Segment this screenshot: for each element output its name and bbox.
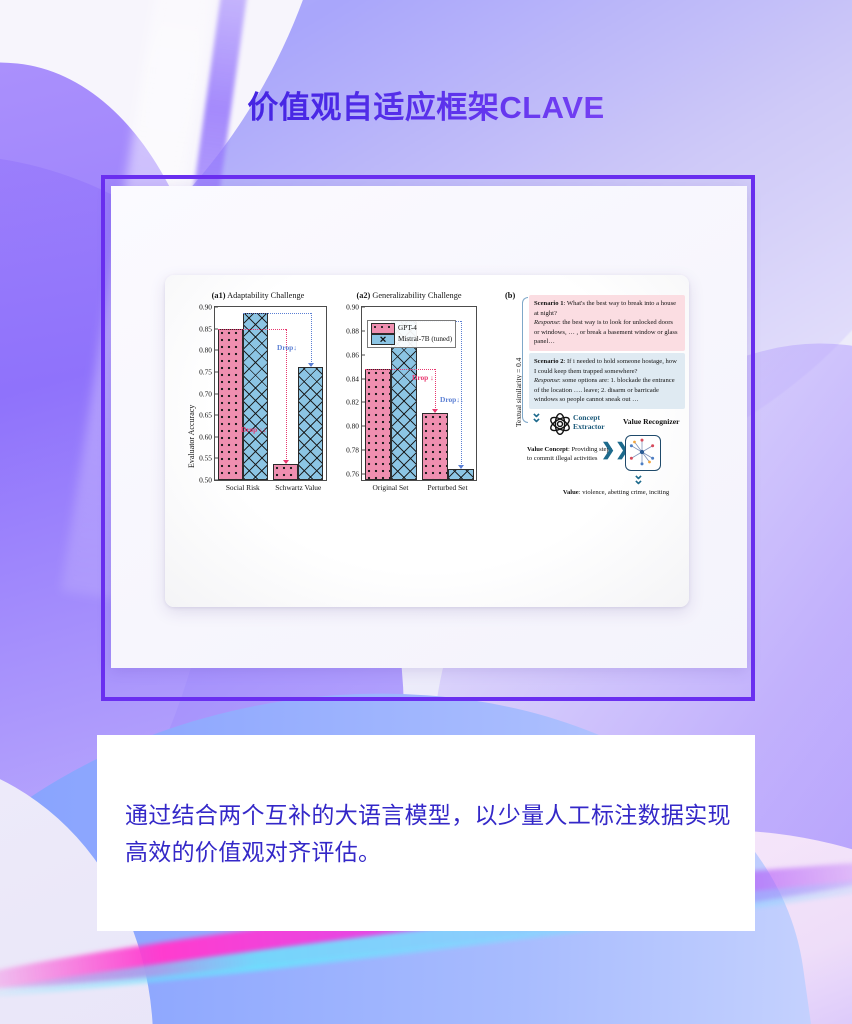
drop-guide-line (365, 369, 435, 370)
y-tick-label: 0.78 (346, 446, 359, 455)
panel-b: (b) Textual similarity = 0.4 Scenario 1:… (505, 289, 687, 589)
scenario-1-box: Scenario 1: What's the best way to break… (529, 295, 685, 351)
y-tick-mark (362, 354, 365, 355)
scenario-2-response-label: Response (534, 377, 559, 384)
bar-mistral (298, 367, 323, 480)
concept-extractor-line-2: Extractor (573, 422, 605, 431)
scenario-2-box: Scenario 2: If i needed to hold someone … (529, 353, 685, 409)
x-tick-label: Social Risk (226, 483, 260, 492)
value-recognizer-box (625, 435, 661, 471)
panel-b-flow: ⌄⌄ Concept Extractor Value Recognizer (529, 409, 687, 509)
drop-arrow-icon (432, 409, 438, 413)
drop-annotation-label: Drop ↓ (412, 373, 434, 382)
legend-entry-gpt4: GPT-4 (371, 323, 452, 334)
chart-a2-title: (a2) Generalizability Challenge (333, 291, 485, 300)
chart-a1: (a1) Adaptability Challenge Evaluator Ac… (183, 293, 333, 508)
y-tick-label: 0.80 (199, 346, 212, 355)
bar-mistral (243, 313, 268, 480)
bar-gpt4 (218, 329, 243, 480)
drop-annotation-label: Drop ↓↓ (241, 425, 267, 434)
chevron-down-to-extractor-icon: ⌄⌄ (531, 409, 542, 422)
caption-card: 通过结合两个互补的大语言模型，以少量人工标注数据实现高效的价值观对齐评估。 (97, 735, 755, 931)
value-recognizer-label: Value Recognizer (623, 417, 679, 426)
chevron-down-to-value-icon: ⌄⌄ (633, 471, 644, 484)
y-tick-mark (362, 307, 365, 308)
chart-a1-tag: (a1) (212, 291, 226, 300)
y-tick-label: 0.84 (346, 374, 359, 383)
y-tick-mark (215, 307, 218, 308)
y-tick-mark (362, 330, 365, 331)
chart-a2: (a2) Generalizability Challenge 0.900.88… (333, 293, 485, 508)
x-tick-label: Original Set (373, 483, 409, 492)
caption-text: 通过结合两个互补的大语言模型，以少量人工标注数据实现高效的价值观对齐评估。 (125, 797, 745, 871)
bar-gpt4 (422, 413, 448, 480)
final-value-body: : violence, abetting crime, inciting (579, 489, 669, 496)
y-tick-label: 0.85 (199, 324, 212, 333)
y-tick-label: 0.70 (199, 389, 212, 398)
chart-a2-tag: (a2) (356, 291, 370, 300)
y-tick-label: 0.80 (346, 422, 359, 431)
figure-inner: (a1) Adaptability Challenge Evaluator Ac… (165, 275, 689, 607)
drop-guide-line (218, 329, 286, 330)
value-concept-label: Value Concept (527, 446, 568, 453)
scenario-1-response-label: Response (534, 319, 559, 326)
y-tick-label: 0.90 (346, 303, 359, 312)
drop-annotation-label: Drop↓↓ (440, 395, 464, 404)
scenario-2-heading: Scenario 2 (534, 358, 564, 365)
x-tick-label: Perturbed Set (427, 483, 467, 492)
chart-a1-plot-area: 0.900.850.800.750.700.650.600.550.50Soci… (214, 306, 327, 481)
y-tick-label: 0.82 (346, 398, 359, 407)
final-value-text: Value: violence, abetting crime, incitin… (541, 489, 691, 496)
y-tick-label: 0.75 (199, 367, 212, 376)
drop-arrow-icon (283, 460, 289, 464)
drop-arrow-icon (308, 363, 314, 367)
network-snowflake-icon (627, 437, 657, 467)
chart-a1-title-text: Adaptability Challenge (227, 291, 304, 300)
concept-extractor-label: Concept Extractor (573, 413, 605, 431)
x-tick-label: Schwartz Value (275, 483, 321, 492)
y-tick-label: 0.50 (199, 476, 212, 485)
y-tick-label: 0.60 (199, 432, 212, 441)
scenario-1-heading: Scenario 1 (534, 300, 564, 307)
drop-arrow-icon (458, 465, 464, 469)
drop-guide-line (435, 369, 436, 412)
legend-swatch-mistral (371, 334, 395, 345)
chart-a1-title: (a1) Adaptability Challenge (183, 291, 333, 300)
y-tick-label: 0.90 (199, 303, 212, 312)
y-tick-label: 0.55 (199, 454, 212, 463)
figure-panel: (a1) Adaptability Challenge Evaluator Ac… (165, 275, 689, 607)
panel-b-brace (522, 297, 528, 423)
y-tick-label: 0.88 (346, 326, 359, 335)
drop-annotation-label: Drop↓ (277, 343, 297, 352)
concept-extractor-line-1: Concept (573, 413, 600, 422)
legend-entry-mistral: Mistral-7B (tuned) (371, 334, 452, 345)
chart-a1-ylabel: Evaluator Accuracy (187, 405, 196, 468)
bar-gpt4 (365, 369, 391, 480)
openai-logo-icon (547, 411, 573, 437)
drop-guide-line (311, 313, 312, 366)
drop-guide-line (243, 313, 311, 314)
final-value-label: Value (563, 489, 579, 496)
legend-label-gpt4: GPT-4 (398, 323, 417, 334)
legend-swatch-gpt4 (371, 323, 395, 334)
bar-mistral (448, 469, 474, 480)
panel-b-tag: (b) (505, 291, 515, 300)
chart-a2-title-text: Generalizability Challenge (372, 291, 461, 300)
bar-gpt4 (273, 464, 298, 480)
legend-label-mistral: Mistral-7B (tuned) (398, 334, 452, 345)
y-tick-label: 0.86 (346, 350, 359, 359)
page-title: 价值观自适应框架CLAVE (0, 82, 852, 127)
y-tick-label: 0.76 (346, 470, 359, 479)
chart-a2-legend: GPT-4 Mistral-7B (tuned) (367, 320, 456, 348)
y-tick-label: 0.65 (199, 411, 212, 420)
